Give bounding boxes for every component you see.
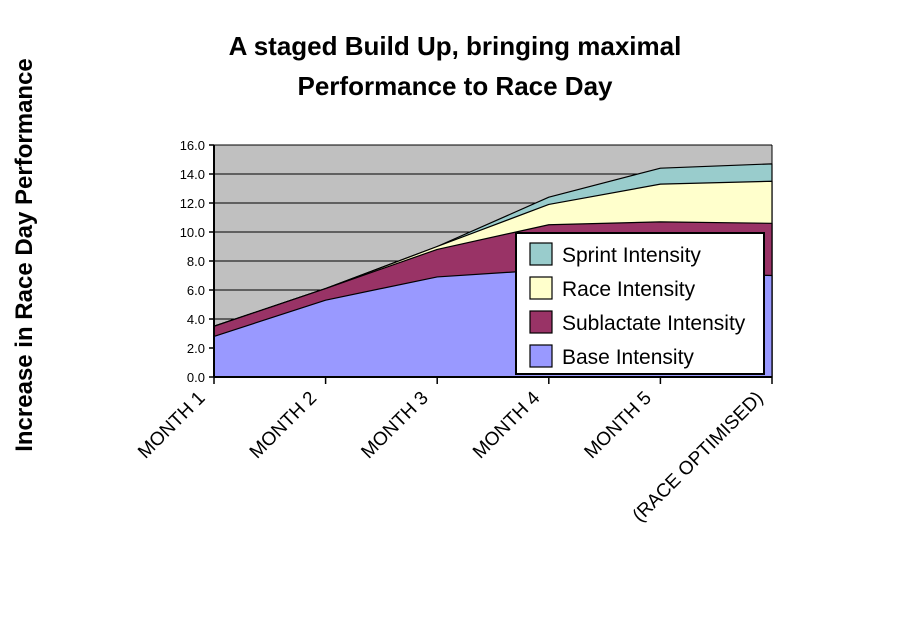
- y-axis-title: Increase in Race Day Performance: [11, 58, 38, 452]
- legend-swatch-4: [530, 345, 552, 367]
- y-tick-label: 14.0: [180, 167, 205, 182]
- legend-swatch-2: [530, 277, 552, 299]
- area-chart-svg: A staged Build Up, bringing maximal Perf…: [0, 0, 907, 623]
- chart-title-line-2: Performance to Race Day: [297, 71, 613, 101]
- y-tick-label: 2.0: [187, 341, 205, 356]
- y-tick-label: 4.0: [187, 312, 205, 327]
- y-tick-label: 16.0: [180, 138, 205, 153]
- legend-swatch-3: [530, 311, 552, 333]
- legend-label-3[interactable]: Sublactate Intensity: [562, 312, 746, 335]
- chart-container: A staged Build Up, bringing maximal Perf…: [0, 0, 907, 623]
- y-tick-label: 10.0: [180, 225, 205, 240]
- y-tick-label: 12.0: [180, 196, 205, 211]
- legend-label-1[interactable]: Sprint Intensity: [562, 244, 701, 267]
- chart-legend[interactable]: Sprint IntensityRace IntensitySublactate…: [516, 233, 764, 374]
- y-tick-label: 6.0: [187, 283, 205, 298]
- y-tick-label: 0.0: [187, 370, 205, 385]
- legend-swatch-1: [530, 243, 552, 265]
- legend-label-4[interactable]: Base Intensity: [562, 346, 694, 369]
- chart-title-line-1: A staged Build Up, bringing maximal: [229, 31, 682, 61]
- y-tick-label: 8.0: [187, 254, 205, 269]
- legend-label-2[interactable]: Race Intensity: [562, 278, 696, 301]
